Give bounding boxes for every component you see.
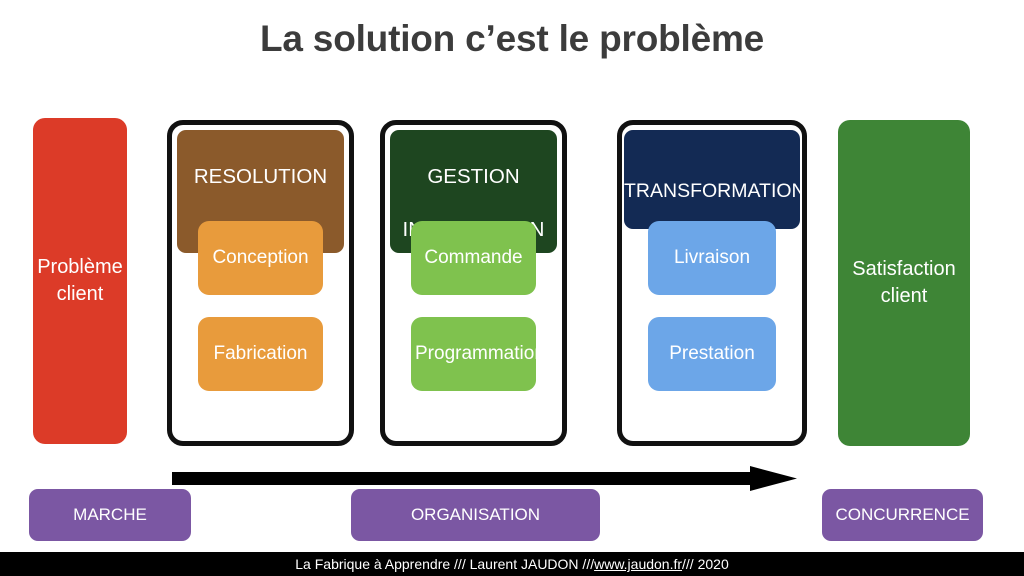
tag-marche-label: MARCHE <box>73 505 147 525</box>
tag-organisation-label: ORGANISATION <box>411 505 540 525</box>
footer-credit: La Fabrique à Apprendre /// Laurent JAUD… <box>0 552 1024 576</box>
process-card-gestion-information[interactable]: GESTION INFORMATION Commande Programmati… <box>380 120 567 446</box>
tag-marche[interactable]: MARCHE <box>29 489 191 541</box>
card-header-line1: GESTION <box>427 165 519 188</box>
tag-concurrence[interactable]: CONCURRENCE <box>822 489 983 541</box>
footer-text-part2: /// 2020 <box>682 556 729 572</box>
card-item-livraison[interactable]: Livraison <box>648 221 776 295</box>
pillar-satisfaction-client: Satisfaction client <box>838 120 970 446</box>
process-card-resolution-probleme[interactable]: RESOLUTION PROBLEME Conception Fabricati… <box>167 120 354 446</box>
page-title: La solution c’est le problème <box>0 18 1024 60</box>
card-items-transformation: Livraison Prestation <box>622 221 802 413</box>
flow-arrow-right-icon <box>172 466 797 491</box>
card-items-gestion-information: Commande Programmation <box>385 221 562 413</box>
slide-canvas: La solution c’est le problème Problème c… <box>0 0 1024 576</box>
footer-link-website[interactable]: www.jaudon.fr <box>594 556 682 572</box>
card-header-transformation: TRANSFORMATION <box>624 130 800 229</box>
card-header-line1: RESOLUTION <box>194 165 327 188</box>
pillar-satisfaction-line2: client <box>881 285 928 307</box>
pillar-problem-line1: Problème <box>37 256 123 278</box>
pillar-problem-client: Problème client <box>33 118 127 444</box>
tag-concurrence-label: CONCURRENCE <box>835 505 969 525</box>
card-item-fabrication[interactable]: Fabrication <box>198 317 323 391</box>
pillar-satisfaction-label: Satisfaction client <box>852 256 955 310</box>
footer-text-part1: La Fabrique à Apprendre /// Laurent JAUD… <box>295 556 594 572</box>
tag-organisation[interactable]: ORGANISATION <box>351 489 600 541</box>
card-items-resolution-probleme: Conception Fabrication <box>172 221 349 413</box>
process-card-transformation[interactable]: TRANSFORMATION Livraison Prestation <box>617 120 807 446</box>
pillar-problem-label: Problème client <box>37 254 123 308</box>
pillar-satisfaction-line1: Satisfaction <box>852 258 955 280</box>
card-item-commande[interactable]: Commande <box>411 221 536 295</box>
card-item-prestation[interactable]: Prestation <box>648 317 776 391</box>
card-item-conception[interactable]: Conception <box>198 221 323 295</box>
card-item-programmation[interactable]: Programmation <box>411 317 536 391</box>
card-header-line1: TRANSFORMATION <box>624 180 806 202</box>
pillar-problem-line2: client <box>57 283 104 305</box>
